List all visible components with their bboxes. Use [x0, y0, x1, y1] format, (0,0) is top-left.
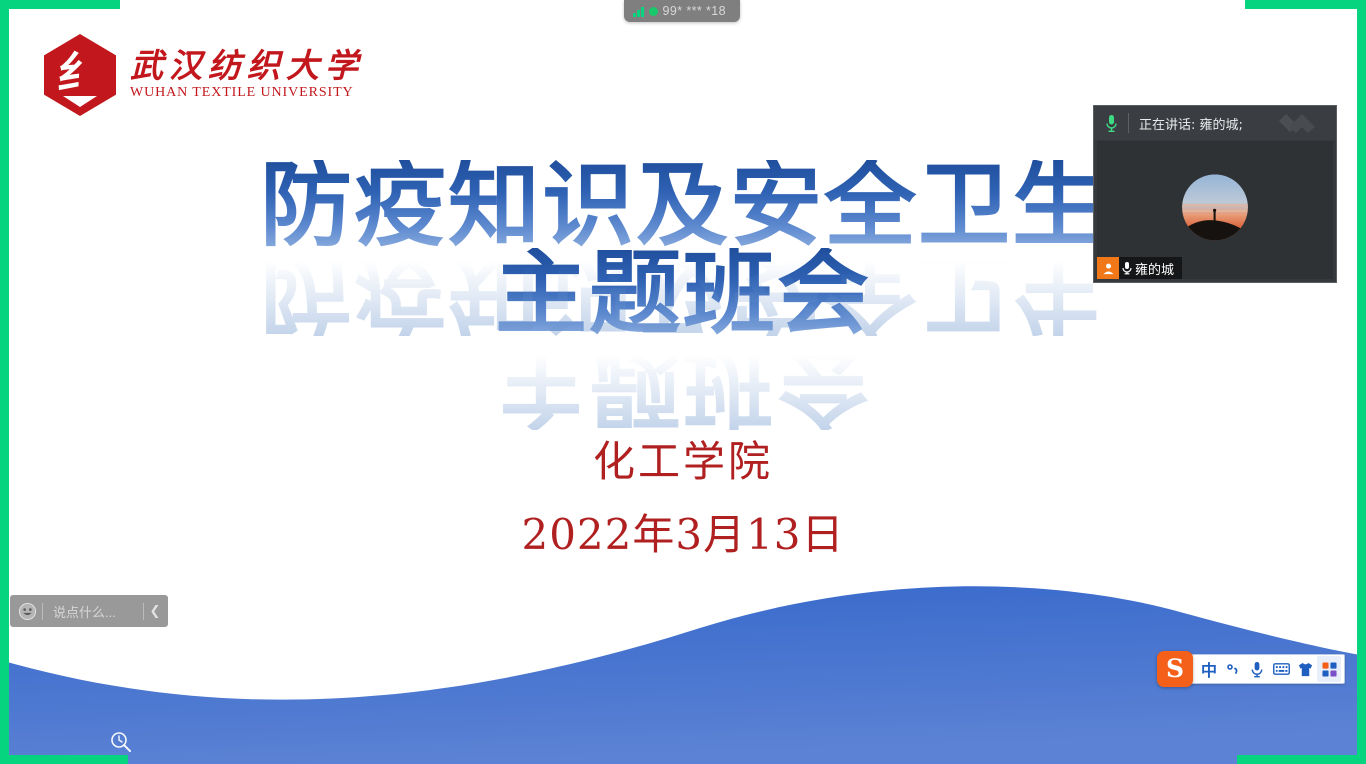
ime-language-mode[interactable]: 中: [1197, 656, 1221, 682]
participant-name: 雍的城: [1135, 259, 1182, 278]
participant-name-tile: 雍的城: [1097, 257, 1182, 279]
microphone-icon: [1119, 257, 1135, 279]
university-name-en: WUHAN TEXTILE UNIVERSITY: [130, 85, 364, 101]
magnifier-icon[interactable]: [110, 731, 132, 753]
screen-share-status-pill[interactable]: 99* *** *18: [624, 0, 740, 22]
slide-subtitle-block: 化工学院 2022年3月13日: [0, 434, 1366, 563]
share-frame-left: [0, 0, 9, 764]
logo-glyph: 纟: [41, 38, 120, 100]
share-frame-top-left: [0, 0, 120, 9]
person-icon: [1097, 257, 1119, 279]
logo-text-block: 武汉纺织大学 WUHAN TEXTILE UNIVERSITY: [130, 49, 364, 102]
sunset-avatar: [1182, 174, 1248, 240]
sogou-logo-letter: S: [1166, 656, 1184, 681]
meeting-video-panel[interactable]: 正在讲话: 雍的城;: [1093, 105, 1337, 283]
sogou-logo-icon[interactable]: S: [1157, 651, 1193, 687]
university-logo: 纟 武汉纺织大学 WUHAN TEXTILE UNIVERSITY: [44, 34, 364, 116]
green-dot-icon: [649, 7, 658, 16]
signal-bars-icon: [633, 6, 644, 17]
chevron-left-icon[interactable]: ❮: [144, 595, 166, 627]
logo-hexagon-mark: 纟: [44, 34, 116, 116]
smiley-icon[interactable]: [12, 595, 42, 627]
video-panel-header: 正在讲话: 雍的城;: [1094, 106, 1336, 140]
share-frame-bottom-left: [0, 755, 128, 764]
ime-punctuation-mode[interactable]: [1221, 656, 1245, 682]
mountain-logo-icon: [1272, 112, 1326, 139]
status-pill-text: 99* *** *18: [663, 4, 726, 18]
share-frame-top-right: [1245, 0, 1366, 9]
video-panel-body[interactable]: 雍的城: [1097, 141, 1333, 279]
ime-toolbox-icon[interactable]: [1317, 656, 1341, 682]
ime-soft-keyboard-icon[interactable]: [1269, 656, 1293, 682]
slide-title-reflection-2: 主题班会: [0, 338, 1366, 430]
share-frame-bottom-right: [1237, 755, 1366, 764]
slide-department: 化工学院: [0, 434, 1366, 491]
slide-date: 2022年3月13日: [0, 507, 1366, 564]
ime-voice-input-icon[interactable]: [1245, 656, 1269, 682]
ime-skin-icon[interactable]: [1293, 656, 1317, 682]
comment-input-bar[interactable]: 说点什么... ❮: [10, 595, 168, 627]
university-name-cn: 武汉纺织大学: [130, 49, 364, 84]
active-speaker-label: 正在讲话: 雍的城;: [1129, 114, 1243, 133]
microphone-icon[interactable]: [1094, 106, 1128, 140]
sogou-ime-toolbar[interactable]: S 中: [1170, 654, 1345, 684]
comment-input[interactable]: 说点什么...: [43, 602, 143, 621]
share-frame-right: [1357, 0, 1366, 764]
